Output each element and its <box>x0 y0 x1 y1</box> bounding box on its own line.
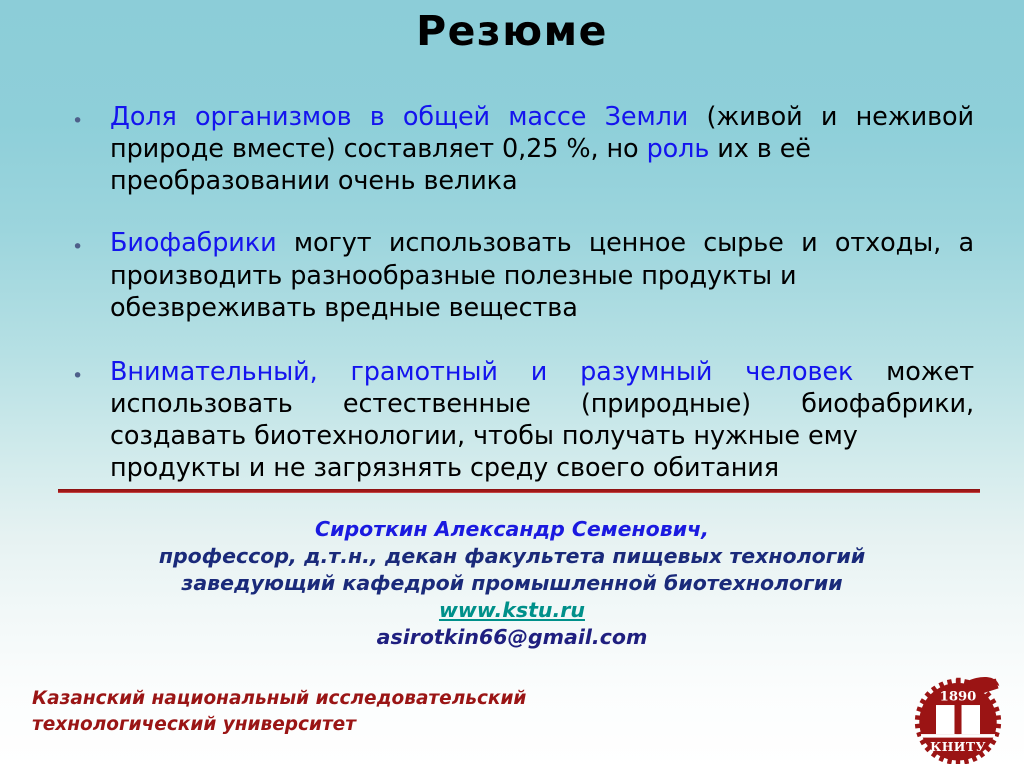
author-email[interactable]: asirotkin66@gmail.com <box>0 624 1024 651</box>
presentation-slide: Резюме • Доля организмов в общей массе З… <box>0 0 1024 767</box>
university-name-line-2: технологический университет <box>32 712 652 738</box>
bullet-2-highlight: Биофабрики <box>110 228 277 258</box>
list-item-text: Внимательный, грамотный и разумный челов… <box>110 356 974 485</box>
bullet-1-highlight-2: роль <box>647 134 710 164</box>
author-signature-block: Сироткин Александр Семенович, профессор,… <box>0 516 1024 651</box>
list-item: • Внимательный, грамотный и разумный чел… <box>72 356 974 485</box>
university-name-line-1: Казанский национальный исследовательский <box>32 686 652 712</box>
bullet-marker-icon: • <box>72 356 110 386</box>
list-item-text: Биофабрики могут использовать ценное сыр… <box>110 227 974 323</box>
website-link-row: www.kstu.ru <box>0 597 1024 624</box>
author-role-line-2: заведующий кафедрой промышленной биотехн… <box>0 570 1024 597</box>
website-link[interactable]: www.kstu.ru <box>439 597 585 624</box>
bullet-3-highlight: Внимательный, грамотный и разумный челов… <box>110 357 853 387</box>
logo-abbr: КНИТУ <box>930 739 986 754</box>
author-name: Сироткин Александр Семенович, <box>0 516 1024 543</box>
bullet-1-body-b: их в её <box>709 134 811 164</box>
bullet-marker-icon: • <box>72 227 110 257</box>
bullet-marker-icon: • <box>72 101 110 131</box>
page-title: Резюме <box>0 8 1024 55</box>
list-item: • Биофабрики могут использовать ценное с… <box>72 227 974 323</box>
bullet-2-last-line: обезвреживать вредные вещества <box>110 292 974 324</box>
knitu-logo: 1890 КНИТУ <box>912 676 1004 764</box>
author-role-line-1: профессор, д.т.н., декан факультета пище… <box>0 543 1024 570</box>
bullet-1-last-line: преобразовании очень велика <box>110 165 974 197</box>
list-item-text: Доля организмов в общей массе Земли (жив… <box>110 101 974 197</box>
logo-year: 1890 <box>940 690 977 705</box>
horizontal-divider <box>58 489 980 493</box>
list-item: • Доля организмов в общей массе Земли (ж… <box>72 101 974 197</box>
knitu-logo-icon: 1890 КНИТУ <box>912 676 1004 764</box>
bullet-3-last-line: продукты и не загрязнять среду своего об… <box>110 452 974 484</box>
bullet-1-highlight: Доля организмов в общей массе Земли <box>110 102 688 132</box>
bullet-list: • Доля организмов в общей массе Земли (ж… <box>72 101 974 484</box>
university-name: Казанский национальный исследовательский… <box>32 686 652 739</box>
